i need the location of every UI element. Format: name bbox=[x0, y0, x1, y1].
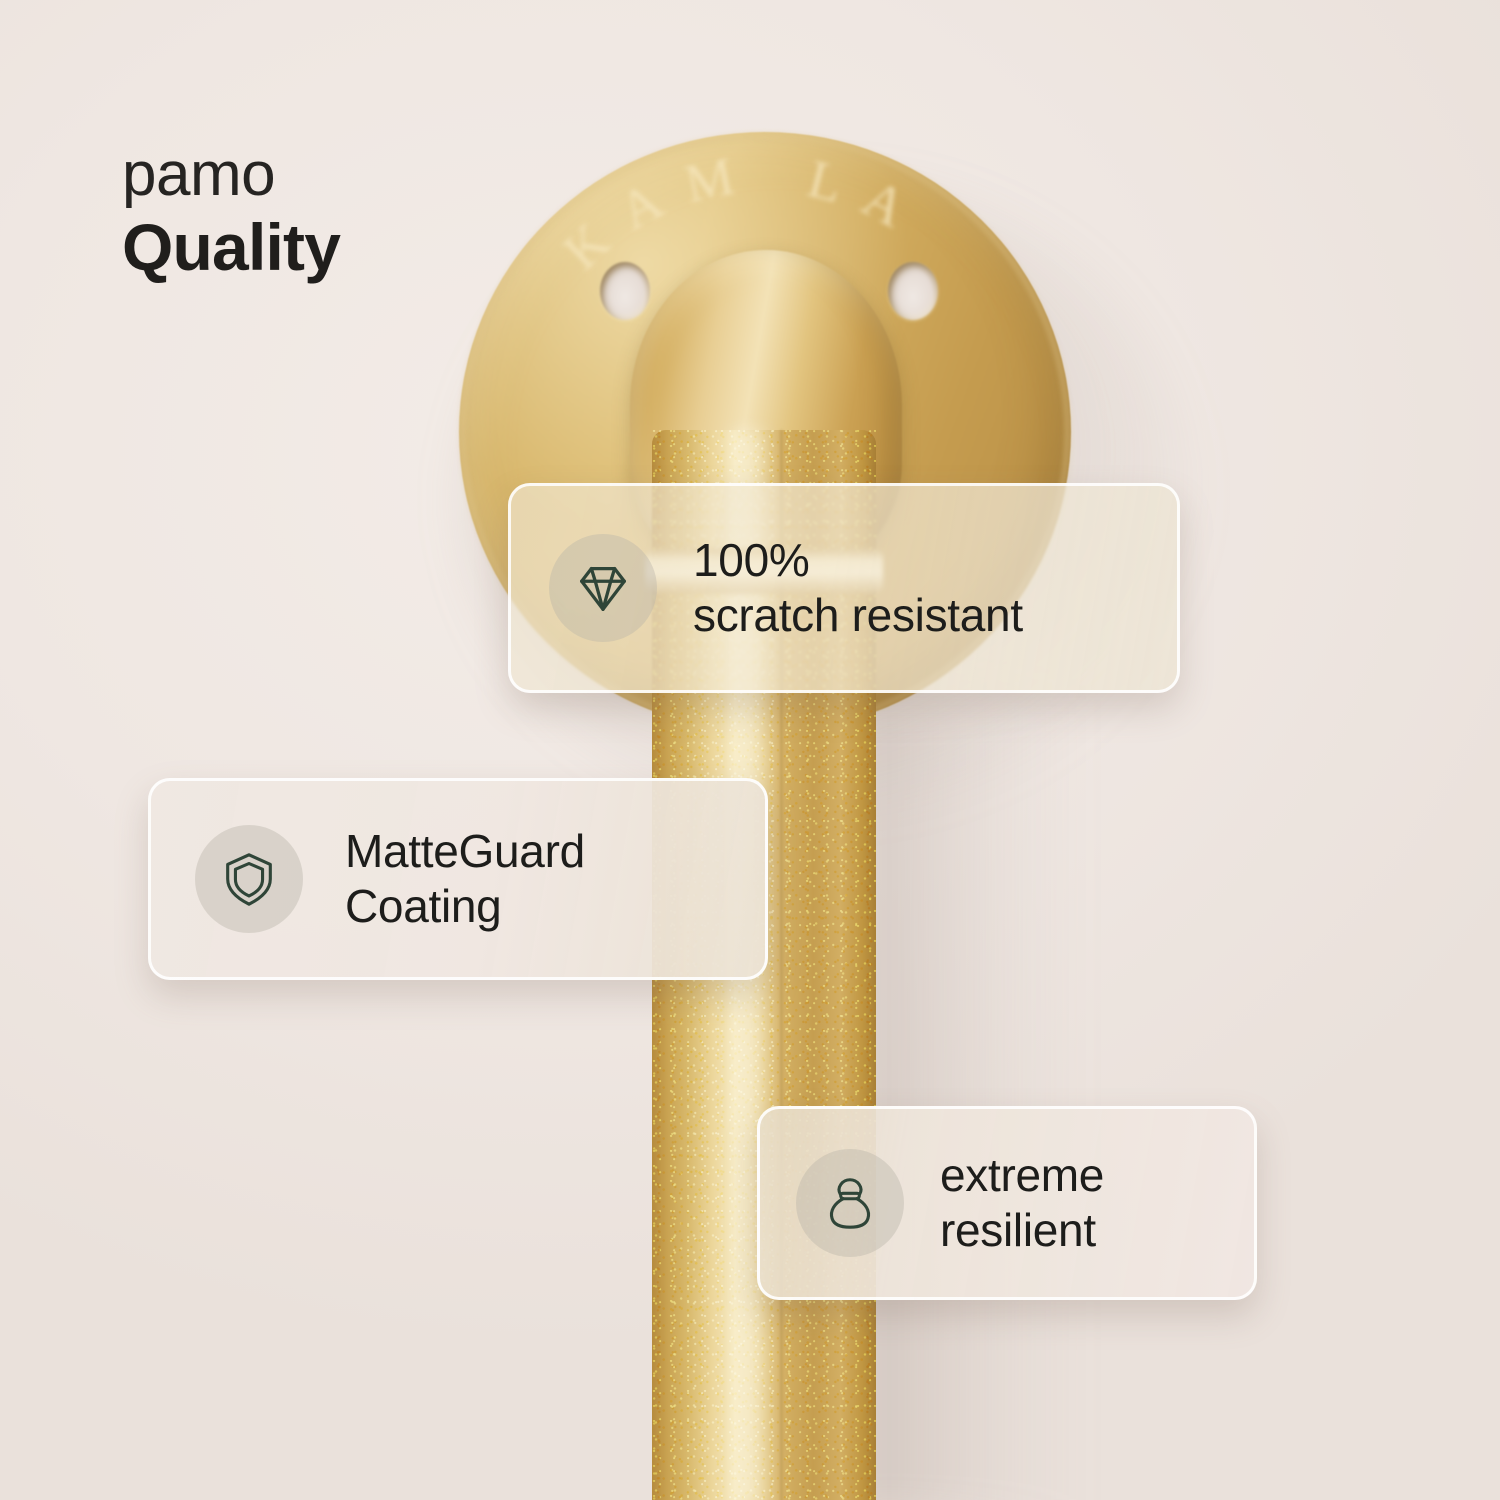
shaft-wall-shadow bbox=[855, 700, 1085, 1500]
feature-label-matteguard-coating: MatteGuard Coating bbox=[345, 824, 585, 934]
shield-icon bbox=[195, 825, 303, 933]
brand-tagline: Quality bbox=[122, 211, 340, 285]
screw-hole-right bbox=[888, 262, 938, 320]
diamond-icon bbox=[549, 534, 657, 642]
feature-badge-scratch-resistant[interactable]: 100% scratch resistant bbox=[508, 483, 1180, 693]
product-feature-graphic: K A M L A pamo Quality bbox=[0, 0, 1500, 1500]
feature-label-scratch-resistant: 100% scratch resistant bbox=[693, 533, 1023, 643]
brand-name: pamo bbox=[122, 142, 340, 209]
feature-label-extreme-resilient: extreme resilient bbox=[940, 1148, 1104, 1258]
screw-hole-left bbox=[600, 262, 650, 320]
feature-badge-extreme-resilient[interactable]: extreme resilient bbox=[757, 1106, 1257, 1300]
feature-badge-matteguard-coating[interactable]: MatteGuard Coating bbox=[148, 778, 768, 980]
page-title: pamo Quality bbox=[122, 142, 340, 285]
kettlebell-icon bbox=[796, 1149, 904, 1257]
